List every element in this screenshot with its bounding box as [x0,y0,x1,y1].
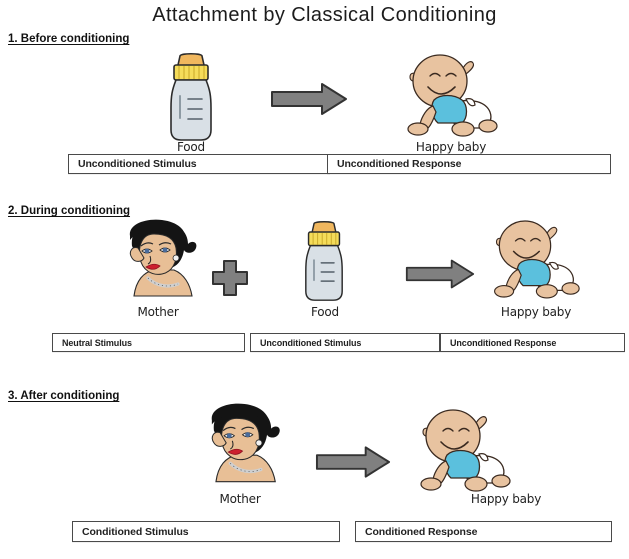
caption-happy-baby-3: Happy baby [460,492,552,506]
caption-happy-baby-2: Happy baby [490,305,582,319]
page-title: Attachment by Classical Conditioning [0,4,629,27]
caption-food-2: Food [285,305,365,319]
diagram-canvas: Attachment by Classical Conditioning 1. … [0,0,629,559]
section-2-heading: 2. During conditioning [8,205,130,217]
baby-bottle-icon [158,52,224,144]
label-box-conditioned-stimulus: Conditioned Stimulus [72,521,340,542]
label-box-unconditioned-stimulus-1: Unconditioned Stimulus [68,154,330,174]
caption-mother-2: Mother [118,305,198,319]
label-text: Conditioned Response [356,526,477,538]
label-text: Unconditioned Response [328,158,461,170]
arrow-right-icon [315,445,391,479]
plus-icon [210,258,250,298]
arrow-right-icon [405,258,475,290]
label-text: Conditioned Stimulus [73,526,189,538]
baby-bottle-icon [294,220,354,304]
section-1-heading: 1. Before conditioning [8,33,129,45]
arrow-right-icon [270,82,348,116]
caption-food-1: Food [151,140,231,154]
mother-icon [112,218,204,308]
crawling-baby-icon [487,215,582,303]
crawling-baby-icon [400,50,500,140]
caption-happy-baby-1: Happy baby [405,140,497,154]
label-box-unconditioned-response-1: Unconditioned Response [327,154,611,174]
label-text: Unconditioned Stimulus [251,338,361,348]
label-box-conditioned-response: Conditioned Response [355,521,612,542]
label-box-neutral-stimulus: Neutral Stimulus [52,333,245,352]
label-box-unconditioned-stimulus-2: Unconditioned Stimulus [250,333,440,352]
mother-icon [193,402,288,494]
caption-mother-3: Mother [200,492,280,506]
crawling-baby-icon [413,405,513,495]
label-box-unconditioned-response-2: Unconditioned Response [440,333,625,352]
label-text: Unconditioned Response [441,338,556,348]
label-text: Neutral Stimulus [53,338,132,348]
label-text: Unconditioned Stimulus [69,158,197,170]
section-3-heading: 3. After conditioning [8,390,119,402]
